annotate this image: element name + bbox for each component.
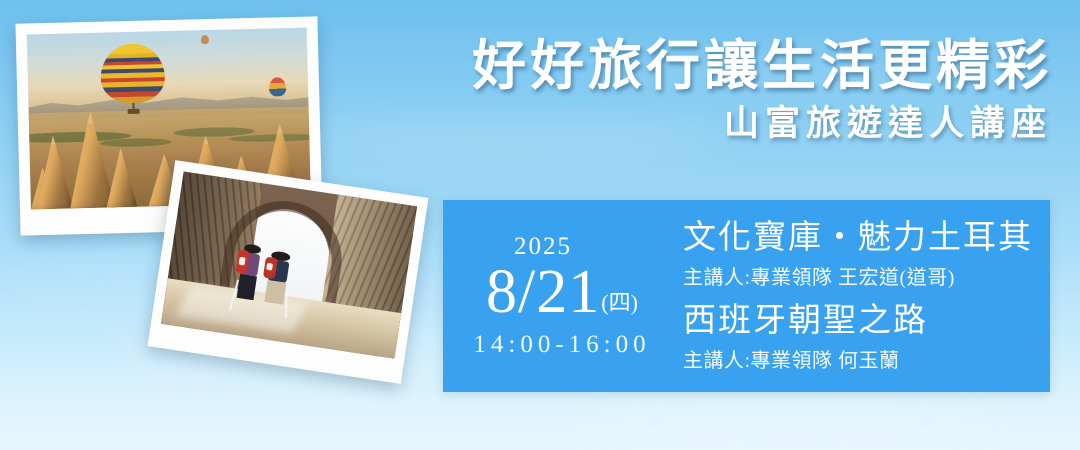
event-day-of-week: (四) [601,292,638,323]
camino-archway-hikers-photo [148,160,429,384]
balloon-basket [127,108,140,114]
cloud-wisp [560,408,1020,438]
fields-shape [29,119,310,157]
session-speaker: 主講人:專業領隊 何玉蘭 [683,344,1050,373]
page-subtitle: 山富旅遊達人講座 [472,105,1052,144]
event-date-block: 2025 8/21 (四) 14:00-16:00 [443,234,675,359]
camino-scene-image [161,171,417,358]
session-speaker: 主講人:專業領隊 王宏道(道哥) [683,261,1050,290]
event-time-range: 14:00-16:00 [449,331,675,359]
event-date-line: 8/21 (四) [449,261,675,323]
event-year: 2025 [411,234,675,259]
session-title: 西班牙朝聖之路 [683,302,1050,341]
promo-banner: 好好旅行讓生活更精彩 山富旅遊達人講座 2025 8/21 (四) 14:00-… [0,0,1080,450]
session-item: 西班牙朝聖之路 主講人:專業領隊 何玉蘭 [683,302,1050,373]
balloon-rope [133,103,134,109]
session-list: 文化寶庫・魅力土耳其 主講人:專業領隊 王宏道(道哥) 西班牙朝聖之路 主講人:… [675,219,1050,373]
session-title: 文化寶庫・魅力土耳其 [683,219,1050,258]
hiker-figure [264,250,290,305]
distant-balloon-icon [200,35,209,44]
main-hot-air-balloon-icon [100,43,166,115]
fairy-chimney [105,147,137,207]
page-title: 好好旅行讓生活更精彩 [472,38,1052,95]
event-info-panel: 2025 8/21 (四) 14:00-16:00 文化寶庫・魅力土耳其 主講人… [443,200,1050,392]
headline-block: 好好旅行讓生活更精彩 山富旅遊達人講座 [472,38,1052,143]
session-item: 文化寶庫・魅力土耳其 主講人:專業領隊 王宏道(道哥) [683,219,1050,290]
event-month-day: 8/21 [486,261,600,323]
second-balloon-icon [269,77,286,97]
